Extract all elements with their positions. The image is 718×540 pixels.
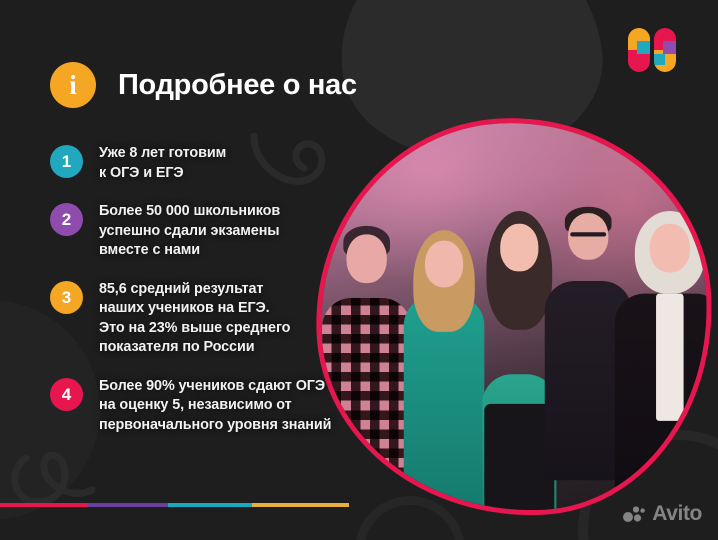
- fact-text: Более 90% учеников сдают ОГЭ на оценку 5…: [99, 377, 331, 436]
- color-bar-segment: [168, 503, 252, 507]
- brand-logo-icon: [628, 28, 676, 72]
- list-item: 4 Более 90% учеников сдают ОГЭ на оценку…: [50, 377, 360, 436]
- color-bar-segment: [0, 503, 88, 507]
- color-bar-segment: [88, 503, 168, 507]
- promo-banner: i Подробнее о нас 1 Уже 8 лет готовим к …: [0, 0, 718, 540]
- photo-blob-frame: [306, 108, 718, 526]
- fact-number-badge: 4: [50, 378, 83, 411]
- info-icon: i: [50, 62, 96, 108]
- team-photo: [316, 118, 712, 516]
- header: i Подробнее о нас: [50, 62, 357, 108]
- person-silhouette: [403, 224, 486, 517]
- fact-number-badge: 3: [50, 281, 83, 314]
- color-bar-segment: [252, 503, 349, 507]
- list-item: 2 Более 50 000 школьников успешно сдали …: [50, 202, 360, 261]
- fact-text: Уже 8 лет готовим к ОГЭ и ЕГЭ: [99, 144, 226, 183]
- avito-dots-icon: [623, 505, 645, 523]
- accent-color-bar: [0, 503, 349, 507]
- avito-watermark: Avito: [623, 502, 702, 526]
- person-silhouette: [322, 226, 411, 506]
- page-title: Подробнее о нас: [118, 69, 357, 102]
- fact-text: 85,6 средний результат наших учеников на…: [99, 280, 290, 358]
- list-item: 3 85,6 средний результат наших учеников …: [50, 280, 360, 358]
- fact-number-badge: 2: [50, 203, 83, 236]
- fact-text: Более 50 000 школьников успешно сдали эк…: [99, 202, 280, 261]
- fact-number-badge: 1: [50, 145, 83, 178]
- person-silhouette: [615, 205, 718, 523]
- avito-wordmark: Avito: [652, 502, 702, 526]
- photo-image: [309, 111, 718, 522]
